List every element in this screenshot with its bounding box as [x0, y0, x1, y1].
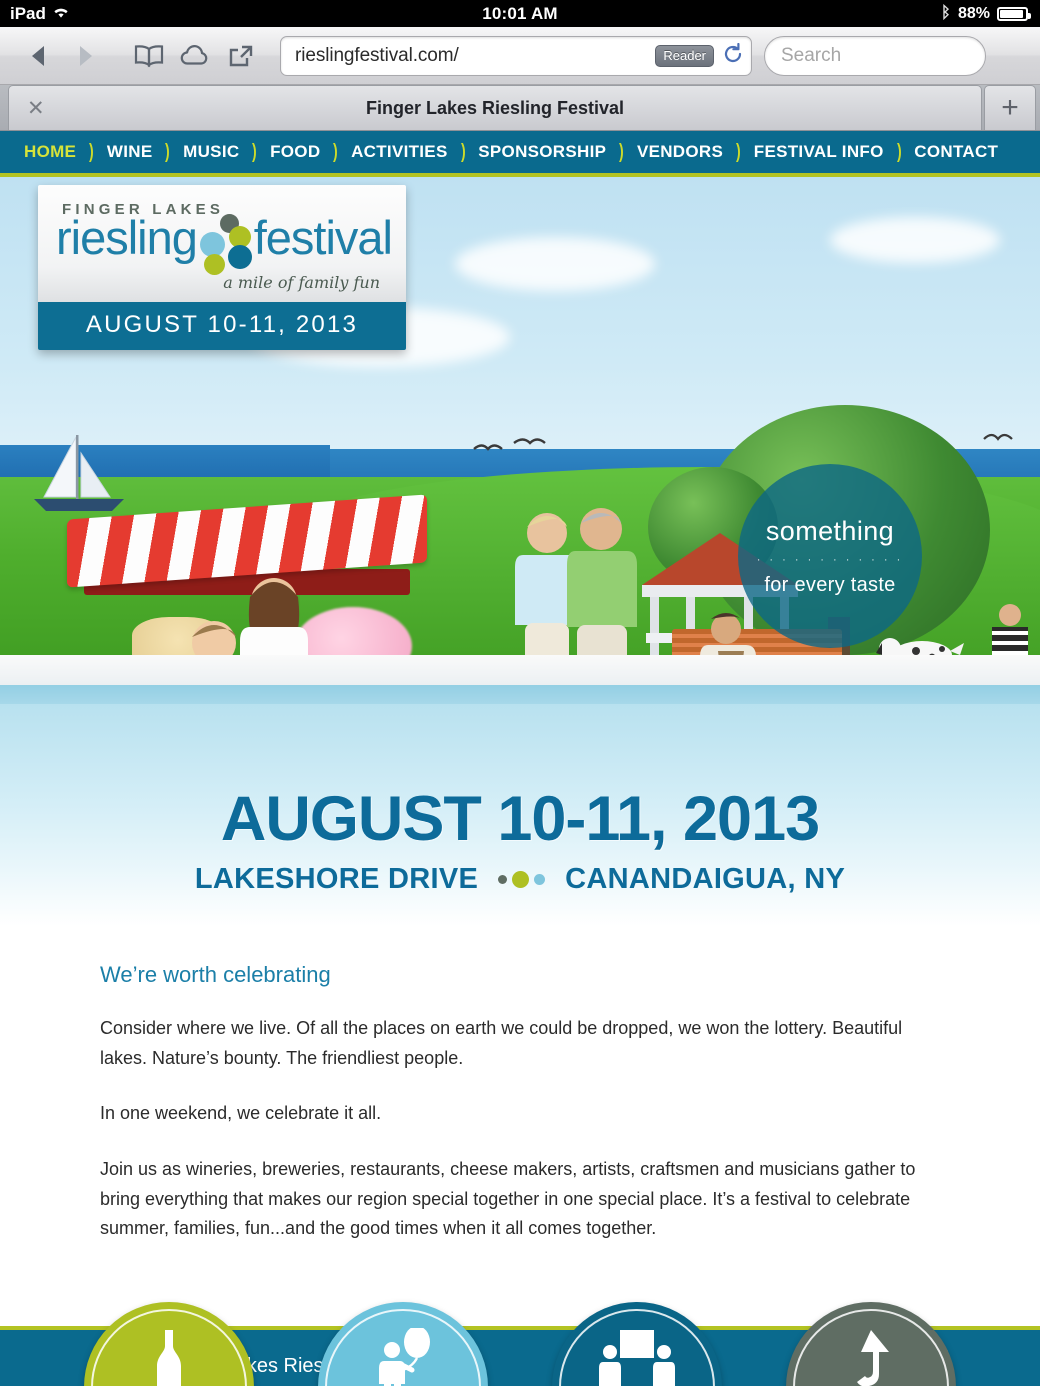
- foreground-water: [0, 685, 1040, 704]
- logo-date-bar: AUGUST 10-11, 2013: [38, 302, 406, 350]
- cloud-icon[interactable]: [172, 35, 218, 77]
- child-with-balloon-icon: [318, 1328, 488, 1386]
- something-for-every-taste-badge: something · · · · · · · · · · · · for ev…: [738, 464, 922, 648]
- location-city: CANANDAIGUA, NY: [565, 863, 845, 896]
- reload-icon[interactable]: [723, 43, 743, 69]
- nav-item-sponsorship[interactable]: SPONSORSHIP: [478, 142, 606, 162]
- back-arrow-icon[interactable]: [16, 35, 62, 77]
- nav-separator: ): [619, 141, 624, 164]
- badge-line-1: something: [766, 516, 894, 547]
- url-text[interactable]: rieslingfestival.com/: [295, 45, 655, 67]
- tab-title: Finger Lakes Riesling Festival: [9, 98, 981, 119]
- status-bar-time: 10:01 AM: [0, 4, 1040, 24]
- bookmarks-book-icon[interactable]: [126, 35, 172, 77]
- location-separator-dots: [498, 871, 545, 888]
- nav-separator: ): [897, 141, 902, 164]
- address-bar[interactable]: rieslingfestival.com/ Reader: [280, 36, 752, 76]
- nav-separator: ): [736, 141, 741, 164]
- logo-word-riesling: riesling: [56, 214, 197, 261]
- logo-wordmark: riesling festival: [52, 214, 392, 272]
- cta-circle-vendors[interactable]: vendors: [552, 1302, 722, 1386]
- nav-item-contact[interactable]: CONTACT: [914, 142, 998, 162]
- cloud-shape: [830, 217, 1000, 263]
- nav-separator: ): [165, 141, 170, 164]
- cloud-shape: [455, 237, 655, 291]
- search-placeholder: Search: [781, 45, 841, 67]
- search-field[interactable]: Search: [764, 36, 986, 76]
- logo-word-festival: festival: [254, 214, 392, 261]
- nav-item-vendors[interactable]: VENDORS: [637, 142, 723, 162]
- nav-separator: ): [252, 141, 257, 164]
- nav-item-home[interactable]: HOME: [24, 142, 76, 162]
- hero-banner: FINGER LAKES riesling festival a mile of…: [0, 177, 1040, 704]
- reader-button[interactable]: Reader: [655, 45, 714, 67]
- birds-icon: [980, 427, 1040, 453]
- wine-bottle-icon: [84, 1328, 254, 1386]
- status-bar-right: 88%: [941, 4, 1040, 24]
- battery-icon: [997, 7, 1028, 21]
- vendor-booth-icon: [552, 1328, 722, 1386]
- location-street: LAKESHORE DRIVE: [195, 863, 478, 896]
- content-paragraph-1: Consider where we live. Of all the place…: [100, 1014, 940, 1073]
- cta-circle-activities[interactable]: activities: [318, 1302, 488, 1386]
- content-heading: We’re worth celebrating: [100, 962, 940, 988]
- site-logo[interactable]: FINGER LAKES riesling festival a mile of…: [38, 185, 406, 350]
- new-tab-button[interactable]: +: [984, 85, 1036, 130]
- nav-item-food[interactable]: FOOD: [270, 142, 320, 162]
- up-arrow-icon: [786, 1328, 956, 1386]
- badge-line-2: for every taste: [764, 574, 895, 597]
- close-icon[interactable]: ✕: [27, 96, 45, 121]
- browser-toolbar: rieslingfestival.com/ Reader Search: [0, 27, 1040, 85]
- nav-item-festival-info[interactable]: FESTIVAL INFO: [754, 142, 884, 162]
- nav-separator: ): [89, 141, 94, 164]
- nav-separator: ): [461, 141, 466, 164]
- forward-arrow-icon[interactable]: [62, 35, 108, 77]
- battery-percent: 88%: [958, 5, 990, 23]
- ios-status-bar: iPad 10:01 AM 88%: [0, 0, 1040, 27]
- birds-icon: [470, 435, 580, 465]
- content-paragraph-3: Join us as wineries, breweries, restaura…: [100, 1155, 940, 1244]
- logo-dots-icon: [198, 214, 253, 272]
- nav-separator: ): [333, 141, 338, 164]
- share-icon[interactable]: [218, 35, 264, 77]
- badge-dotted-divider: · · · · · · · · · · · ·: [757, 554, 904, 566]
- logo-plate: FINGER LAKES riesling festival a mile of…: [38, 185, 406, 302]
- nav-item-activities[interactable]: ACTIVITIES: [351, 142, 448, 162]
- site-navigation: HOME ) WINE ) MUSIC ) FOOD ) ACTIVITIES …: [0, 131, 1040, 177]
- date-section: wine (& beer) activities: [0, 704, 1040, 926]
- logo-tagline: a mile of family fun: [52, 273, 392, 292]
- browser-tab-bar: ✕ Finger Lakes Riesling Festival +: [0, 85, 1040, 131]
- cta-circle-festival-info[interactable]: festival info: [786, 1302, 956, 1386]
- nav-item-wine[interactable]: WINE: [107, 142, 153, 162]
- browser-tab[interactable]: ✕ Finger Lakes Riesling Festival: [8, 85, 982, 130]
- content-paragraph-2: In one weekend, we celebrate it all.: [100, 1099, 940, 1129]
- cta-circle-wine[interactable]: wine (& beer): [84, 1302, 254, 1386]
- festival-location: LAKESHORE DRIVE CANANDAIGUA, NY: [0, 863, 1040, 896]
- nav-item-music[interactable]: MUSIC: [183, 142, 239, 162]
- bluetooth-icon: [941, 4, 951, 24]
- main-content: We’re worth celebrating Consider where w…: [0, 926, 1040, 1244]
- festival-date-headline: AUGUST 10-11, 2013: [0, 788, 1040, 851]
- cta-circle-group: wine (& beer) activities: [0, 1302, 1040, 1386]
